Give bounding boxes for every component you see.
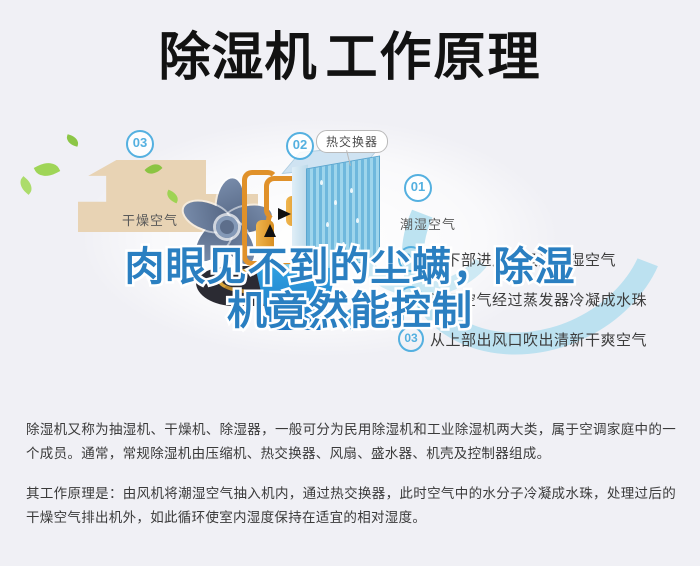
step-text: 从下部进风口吸进潮湿空气 <box>430 249 616 270</box>
heat-exchanger-callout: 热交换器 <box>316 130 388 153</box>
title-part-one: 除湿机 <box>158 28 317 88</box>
process-step: 02 潮湿空气经过蒸发器冷凝成水珠 <box>398 286 690 312</box>
diagram-badge-dry-air: 03 <box>126 130 154 158</box>
dry-air-label: 干燥空气 <box>122 210 178 229</box>
process-step: 03 从上部出风口吹出清新干爽空气 <box>398 326 690 352</box>
process-step-list: 01 从下部进风口吸进潮湿空气 02 潮湿空气经过蒸发器冷凝成水珠 03 从上部… <box>398 246 690 366</box>
flow-arrow-up-icon <box>264 224 276 237</box>
infographic-page: 除湿机工作原理 <box>0 0 700 566</box>
step-text: 从上部出风口吹出清新干爽空气 <box>430 329 647 350</box>
diagram-badge-heat-exchanger: 02 <box>286 132 314 160</box>
condensation-droplet-icon <box>320 180 323 185</box>
water-tank-label: 水箱 <box>252 294 340 310</box>
step-badge: 01 <box>398 246 424 272</box>
condensation-droplet-icon <box>342 242 345 247</box>
body-paragraph-2: 其工作原理是：由风机将潮湿空气抽入机内，通过热交换器，此时空气中的水分子冷凝成水… <box>26 482 676 530</box>
condensation-droplet-icon <box>334 200 337 205</box>
step-badge: 02 <box>398 286 424 312</box>
condensation-droplet-icon <box>350 188 353 193</box>
heat-exchanger-fins-icon <box>306 155 380 272</box>
title-part-two: 工作原理 <box>326 28 542 88</box>
condensation-droplet-icon <box>356 218 359 223</box>
step-text: 潮湿空气经过蒸发器冷凝成水珠 <box>430 289 647 310</box>
diagram-badge-humid-air: 01 <box>404 174 432 202</box>
humid-air-intake-arrow-icon <box>352 314 404 325</box>
page-title: 除湿机工作原理 <box>0 28 700 88</box>
dehumidifier-diagram: 水箱 03 02 01 干燥空气 潮湿空气 热交换器 01 从下部进风口吸进潮湿… <box>0 118 700 398</box>
article-body: 除湿机又称为抽湿机、干燥机、除湿器，一般可分为民用除湿机和工业除湿机两大类，属于… <box>26 418 676 530</box>
humid-air-label: 潮湿空气 <box>400 214 456 233</box>
body-paragraph-1: 除湿机又称为抽湿机、干燥机、除湿器，一般可分为民用除湿机和工业除湿机两大类，属于… <box>26 418 676 466</box>
condensation-droplet-icon <box>326 222 329 227</box>
flow-arrow-right-icon <box>278 208 291 220</box>
fan-hub <box>216 216 238 238</box>
process-step: 01 从下部进风口吸进潮湿空气 <box>398 246 690 272</box>
step-badge: 03 <box>398 326 424 352</box>
